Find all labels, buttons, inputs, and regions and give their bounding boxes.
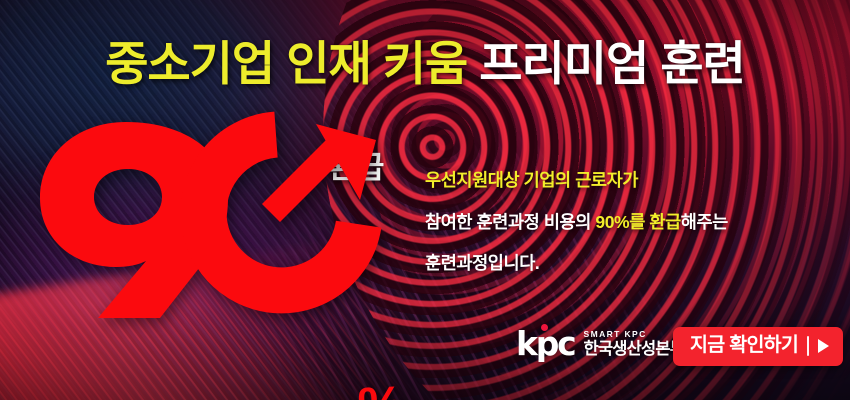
cta-button[interactable]: 지금 확인하기 <box>673 327 843 366</box>
digit-zero-refund-arrow <box>193 124 376 300</box>
percent-sign: % <box>357 379 406 400</box>
body-line-3: 훈련과정입니다. <box>425 255 815 273</box>
body-line-1-text: 우선지원대상 기업의 근로자가 <box>425 170 638 190</box>
headline: 중소기업 인재 키움 프리미엄 훈련 <box>0 40 850 87</box>
discount-graphic: 환급 % <box>28 118 418 323</box>
body-line-1: 우선지원대상 기업의 근로자가 <box>425 172 815 190</box>
play-triangle-right-icon <box>818 339 829 353</box>
body-line-2-suffix: 해주는 <box>681 212 728 232</box>
kpc-logo-name-kr: 한국생산성본부 <box>584 341 685 358</box>
promo-banner: 중소기업 인재 키움 프리미엄 훈련 환급 <box>0 0 850 400</box>
body-line-3-text: 훈련과정입니다. <box>425 253 539 273</box>
discount-number-90 <box>28 118 418 323</box>
kpc-logo-tagline: SMART KPC <box>584 330 685 339</box>
body-line-2-highlight: 90%를 환급 <box>595 212 680 232</box>
kpc-logo-dot-icon <box>541 324 548 331</box>
kpc-logo-text: SMART KPC 한국생산성본부 <box>584 330 685 357</box>
body-copy: 우선지원대상 기업의 근로자가 참여한 훈련과정 비용의 90%를 환급해주는 … <box>425 172 815 273</box>
banner-content: 중소기업 인재 키움 프리미엄 훈련 환급 <box>0 0 850 400</box>
cta-button-label: 지금 확인하기 <box>690 336 798 356</box>
body-line-2: 참여한 훈련과정 비용의 90%를 환급해주는 <box>425 214 815 232</box>
headline-white-part: 프리미엄 훈련 <box>479 37 745 90</box>
headline-yellow-part: 중소기업 인재 키움 <box>105 37 467 90</box>
kpc-logo-mark: kpc <box>516 327 575 360</box>
cta-divider <box>807 336 809 356</box>
body-line-2-prefix: 참여한 훈련과정 비용의 <box>425 212 595 232</box>
kpc-logo: kpc SMART KPC 한국생산성본부 <box>516 327 684 360</box>
